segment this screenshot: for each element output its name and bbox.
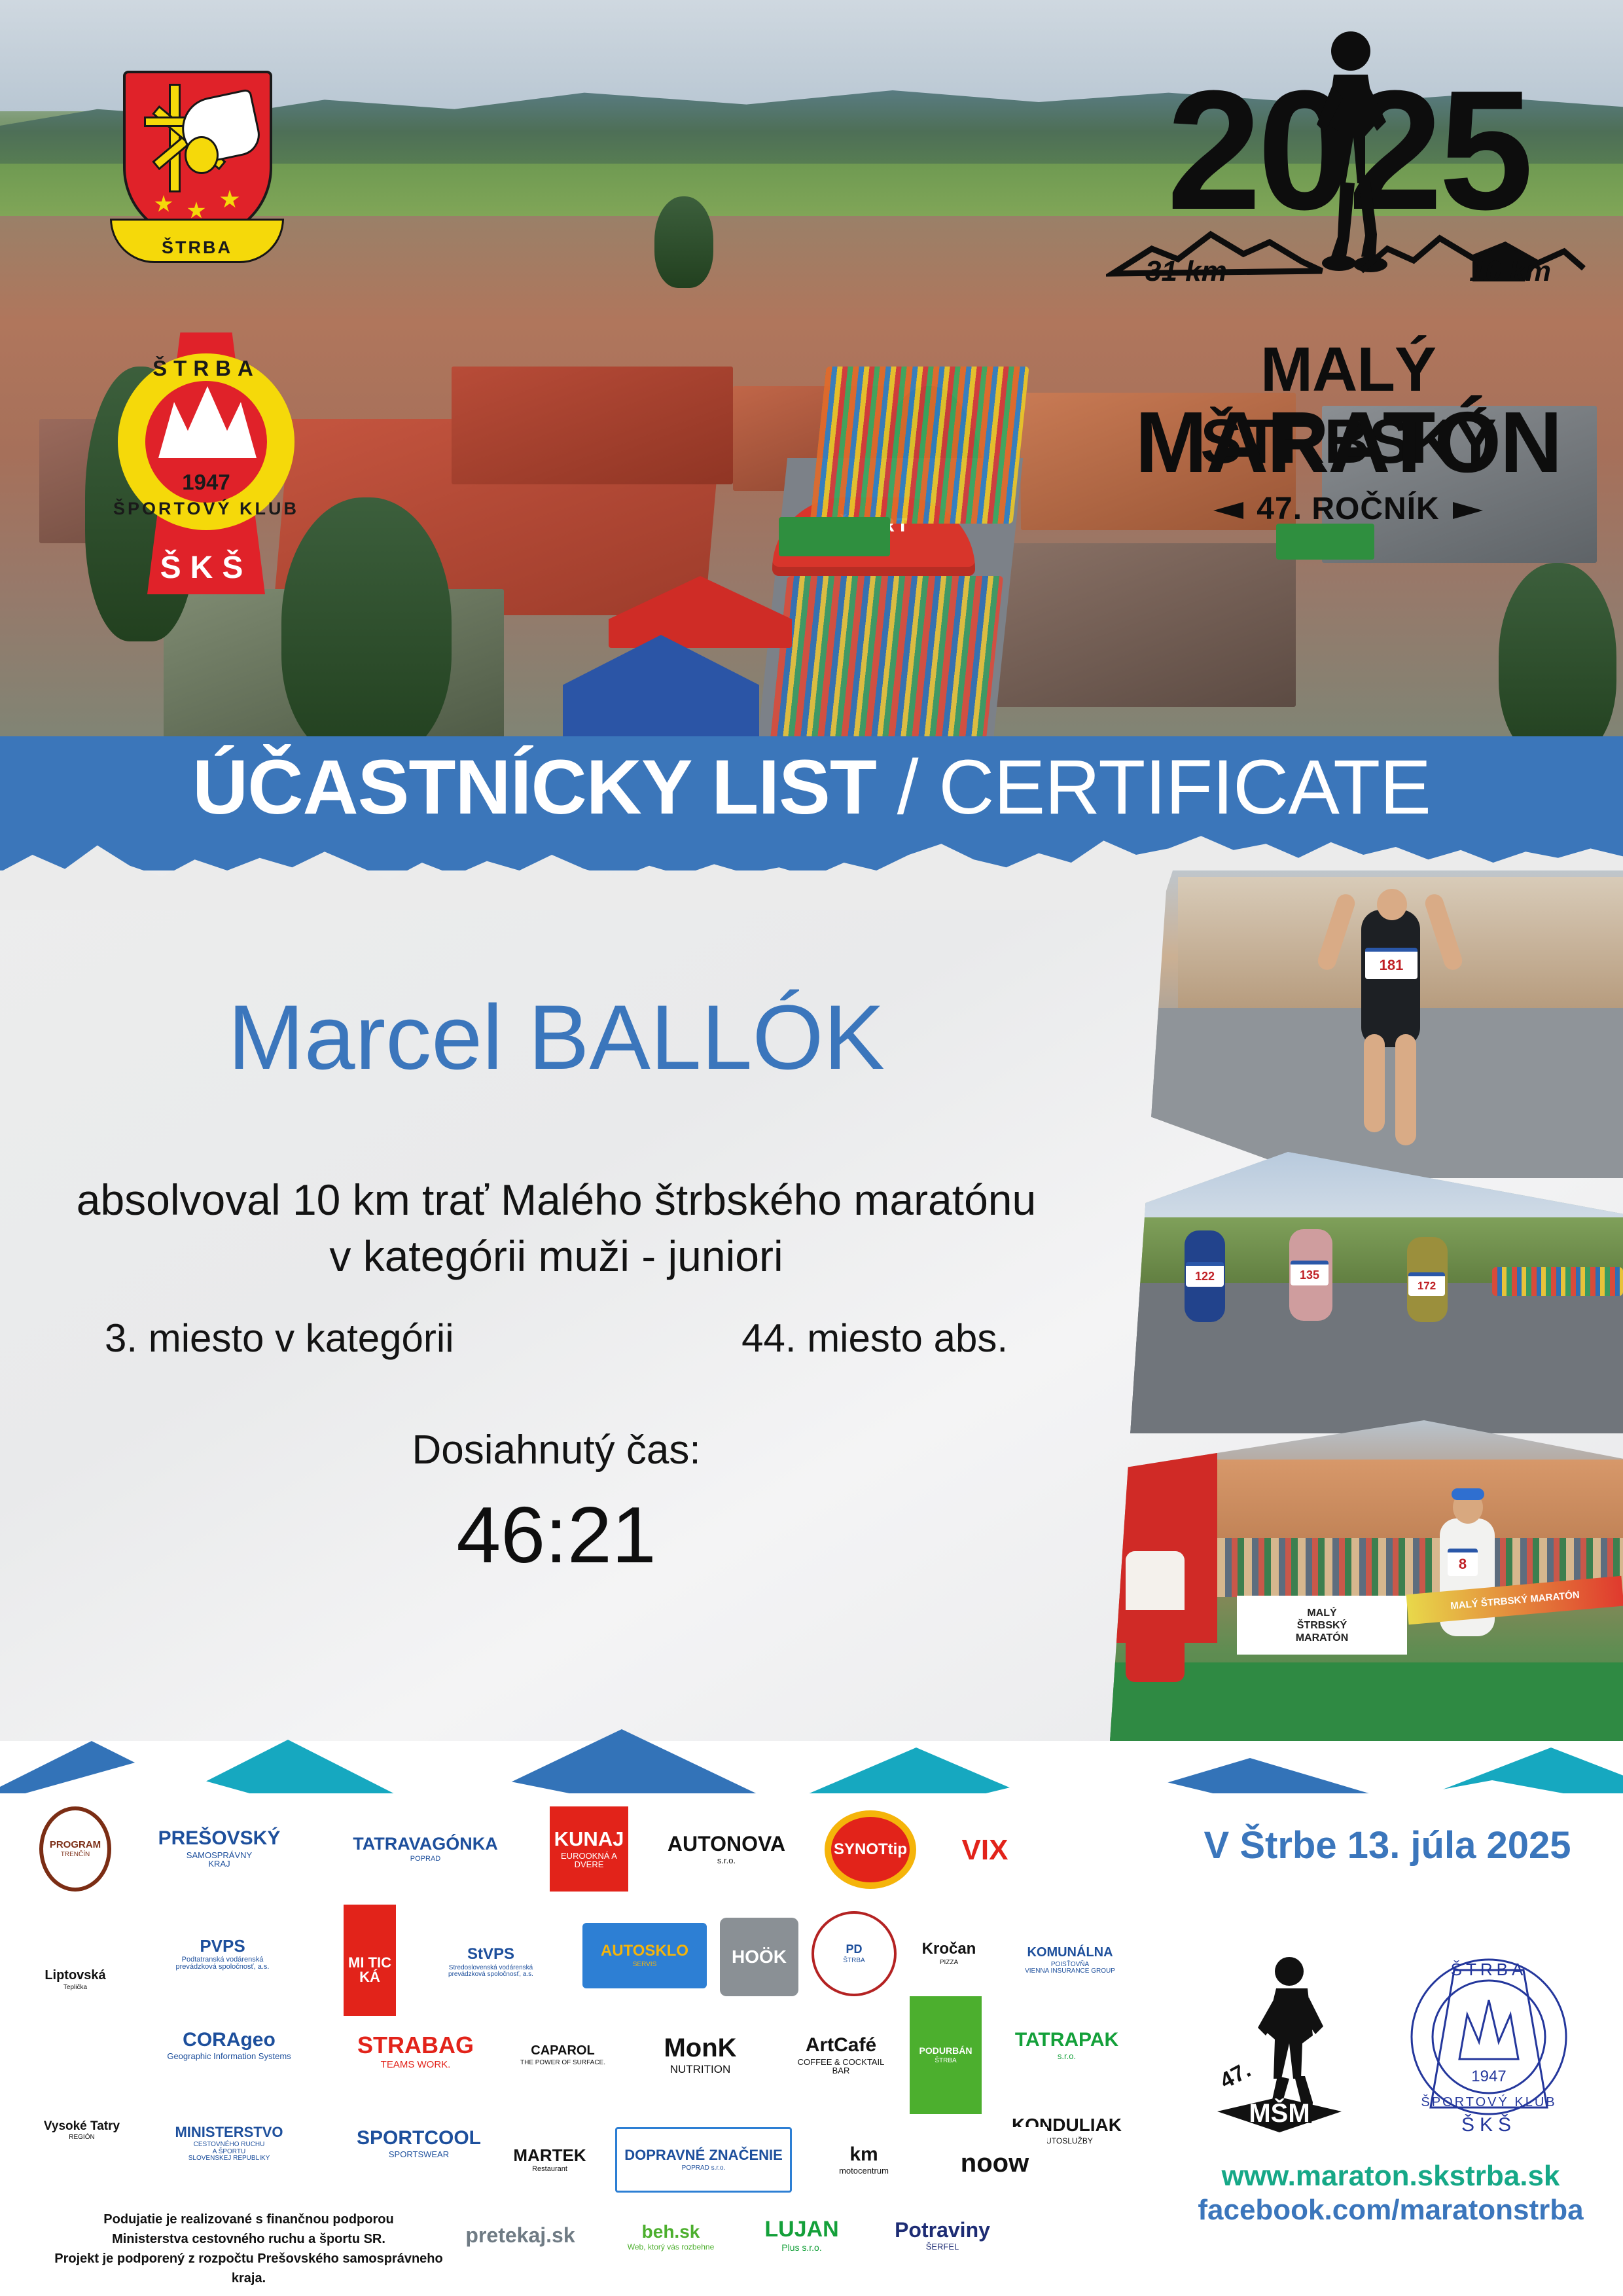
- sks-bottom-label: ŠPORTOVÝ KLUB: [98, 499, 314, 519]
- sponsor-name: AUTONOVA: [668, 1833, 785, 1855]
- runner-leg: [1395, 1034, 1416, 1145]
- page-title-bold: ÚČASTNÍCKY LIST: [192, 744, 876, 831]
- sponsor-name: TATRAPAK: [1015, 2030, 1118, 2051]
- sponsor-tagline: motocentrum: [839, 2166, 889, 2175]
- sponsor-tagline: PIZZA: [940, 1960, 958, 1966]
- distant-runners: [1492, 1267, 1623, 1296]
- sponsor-tagline: EUROOKNÁ A DVERE: [552, 1852, 626, 1869]
- support-line-3: Projekt je podporený z rozpočtu Prešovsk…: [39, 2249, 458, 2288]
- sks-top-label: ŠTRBA: [98, 356, 314, 381]
- crest-star: [187, 202, 205, 220]
- sponsor-name: Kročan: [922, 1941, 976, 1957]
- sponsor-name: KOMUNÁLNA: [1027, 1946, 1113, 1959]
- bib-number: 135: [1291, 1261, 1329, 1285]
- finish-tape-label: MALÝ ŠTRBSKÝ MARATÓN: [1450, 1589, 1580, 1611]
- sponsor-tagline: Restaurant: [532, 2166, 567, 2173]
- hero-photo: ŠTART ŠTRBA: [0, 0, 1623, 746]
- sponsor-name: HOÖK: [732, 1948, 787, 1967]
- event-title-line2: MARATÓN: [1106, 393, 1590, 492]
- sponsor-logo: CAPAROLTHE POWER OF SURFACE.: [510, 2003, 615, 2108]
- crest-shield: [123, 71, 272, 240]
- sponsor-logo: PotravinyŠERFEL: [870, 2199, 1014, 2271]
- sponsor-tagline: CESTOVNÉHO RUCHU A ŠPORTU SLOVENSKEJ REP…: [188, 2142, 270, 2162]
- sponsor-tagline: SERVIS: [633, 1962, 657, 1968]
- time-label: Dosiahnutý čas:: [0, 1427, 1113, 1473]
- sponsor-name: km: [849, 2145, 878, 2165]
- sponsor-logo: AUTONOVAs.r.o.: [648, 1806, 805, 1892]
- bib-number: 181: [1365, 948, 1418, 979]
- event-edition-label: 47. ROČNÍK: [1257, 492, 1439, 526]
- sponsor-tagline: POPRAD: [410, 1856, 440, 1863]
- road-asphalt: [1099, 1283, 1623, 1433]
- category-placement: 3. miesto v kategórii: [105, 1316, 454, 1361]
- sponsor-logo: CORAgeoGeographic Information Systems: [137, 2009, 321, 2081]
- support-line-1: Podujatie je realizované s finančnou pod…: [39, 2210, 458, 2229]
- sponsor-tagline: COFFEE & COCKTAIL BAR: [788, 2058, 894, 2075]
- sponsor-name: PVPS: [200, 1937, 245, 1955]
- sponsor-tagline: s.r.o.: [717, 1856, 736, 1865]
- website-url[interactable]: www.maraton.skstrba.sk: [1171, 2160, 1610, 2193]
- placement-row: 3. miesto v kategórii 44. miesto abs.: [0, 1316, 1113, 1361]
- distance-10km: 10 km: [1469, 255, 1551, 288]
- sponsor-logo: AUTOSKLOSERVIS: [582, 1923, 707, 1988]
- photo-finisher-celebrating: 181: [1099, 870, 1623, 1178]
- runner-leg: [1364, 1034, 1385, 1132]
- msm-abbrev-text: MŠM: [1249, 2098, 1310, 2128]
- event-edition-row: 47. ROČNÍK: [1106, 491, 1590, 527]
- sponsor-tagline: ŠTRBA: [843, 1958, 865, 1964]
- sponsor-name: beh.sk: [642, 2223, 700, 2242]
- sponsor-name: SPORTCOOL: [357, 2128, 481, 2149]
- bib-number: 122: [1186, 1262, 1224, 1287]
- sponsor-tagline: SAMOSPRÁVNY KRAJ: [187, 1851, 252, 1869]
- sponsor-name: STRABAG: [357, 2034, 474, 2058]
- sponsor-logo: MonKNUTRITION: [635, 2016, 766, 2094]
- sponsor-logo: HOÖK: [720, 1918, 798, 1996]
- sponsor-name: Potraviny: [895, 2219, 990, 2241]
- sponsor-name: MonK: [664, 2035, 736, 2062]
- sponsor-name: PROGRAM: [50, 1840, 101, 1850]
- sks-club-logo: ŠTRBA 1947 ŠPORTOVÝ KLUB ŠKŠ: [98, 321, 314, 602]
- sponsor-name: MINISTERSTVO: [175, 2125, 283, 2140]
- bib-number: 8: [1448, 1549, 1478, 1576]
- sks-stamp: ŠTRBA 1947 ŠPORTOVÝ KLUB ŠKŠ: [1394, 1944, 1584, 2140]
- sponsor-logo: ArtCaféCOFFEE & COCKTAIL BAR: [785, 2003, 897, 2108]
- sponsor-tagline: NUTRITION: [670, 2064, 731, 2075]
- msm-edition-text: 47.: [1216, 2057, 1255, 2094]
- sponsor-name: StVPS: [467, 1946, 514, 1962]
- sponsor-logo: PVPSPodtatranská vodárenská prevádzková …: [124, 1916, 321, 1992]
- sponsor-tagline: TRENČÍN: [61, 1852, 90, 1858]
- arrow-left-icon: [1177, 502, 1243, 519]
- certificate-description: absolvoval 10 km trať Malého štrbského m…: [0, 1172, 1113, 1284]
- sponsor-tagline: Plus s.r.o.: [781, 2243, 821, 2252]
- funding-support-text: Podujatie je realizované s finančnou pod…: [39, 2210, 458, 2288]
- sponsor-logo: TATRAVAGÓNKAPOPRAD: [327, 1813, 524, 1885]
- sponsor-tagline: Web, ktorý vás rozbehne: [628, 2243, 715, 2251]
- sponsor-logo: LiptovskáTeplička: [39, 1905, 111, 2055]
- sks-year-label: 1947: [98, 470, 314, 495]
- sponsor-logo: VIX: [936, 1806, 1034, 1895]
- sponsor-logo: KOMUNÁLNAPOISŤOVŇA VIENNA INSURANCE GROU…: [1001, 1924, 1139, 1996]
- sponsor-logo: LUJANPlus s.r.o.: [746, 2199, 857, 2271]
- sponsor-tagline: Geographic Information Systems: [167, 2052, 291, 2060]
- sponsor-name: LUJAN: [764, 2218, 838, 2241]
- runner-head: [1377, 889, 1407, 920]
- sponsor-name: DOPRAVNÉ ZNAČENIE: [624, 2148, 783, 2162]
- participant-name: Marcel BALLÓK: [0, 988, 1113, 1086]
- distance-31km: 31 km: [1145, 255, 1227, 288]
- sponsor-name: SYNOTtip: [834, 1842, 907, 1857]
- sponsor-name: PD: [846, 1943, 862, 1955]
- crest-name-label: ŠTRBA: [162, 238, 232, 261]
- sponsor-logo-grid: PROGRAMTRENČÍNPREŠOVSKÝSAMOSPRÁVNY KRAJT…: [39, 1806, 1152, 2212]
- absolute-placement: 44. miesto abs.: [741, 1316, 1008, 1361]
- sponsor-name: Liptovská: [45, 1969, 105, 1982]
- race-crowd: [810, 367, 1029, 524]
- sponsor-logo: PROGRAMTRENČÍN: [39, 1806, 111, 1892]
- sponsor-tagline: Stredoslovenská vodárenská prevádzková s…: [448, 1965, 533, 1978]
- issue-date: V Štrbe 13. júla 2025: [1171, 1823, 1603, 1867]
- arrow-right-icon: [1453, 502, 1520, 519]
- sks-stamp-icon: ŠTRBA 1947 ŠPORTOVÝ KLUB ŠKŠ: [1394, 1944, 1584, 2140]
- sponsor-logo: SYNOTtip: [825, 1810, 916, 1889]
- crest-name-banner: ŠTRBA: [110, 219, 284, 263]
- sponsor-logo: TATRAPAKs.r.o.: [1001, 2009, 1132, 2081]
- msm-runner-icon: 47. MŠM: [1198, 1950, 1361, 2134]
- sponsor-tagline: ŠERFEL: [926, 2242, 959, 2251]
- sponsor-logo: SPORTCOOLSPORTSWEAR: [340, 2108, 497, 2179]
- sponsor-tagline: THE POWER OF SURFACE.: [520, 2060, 605, 2066]
- sponsor-logo: beh.skWeb, ktorý vás rozbehne: [609, 2209, 733, 2265]
- sponsor-tagline: SPORTSWEAR: [389, 2150, 449, 2159]
- sponsor-name: CORAgeo: [183, 2030, 276, 2051]
- sponsor-tagline: Teplička: [63, 1984, 87, 1991]
- bib-number: 172: [1408, 1272, 1445, 1296]
- crest-star: [220, 190, 240, 209]
- sponsor-name: PREŠOVSKÝ: [158, 1829, 281, 1849]
- sponsor-logo: STRABAGTEAMS WORK.: [340, 2016, 491, 2088]
- tree: [654, 196, 713, 288]
- sponsor-logo: MARTEKRestaurant: [497, 2114, 602, 2206]
- facebook-url[interactable]: facebook.com/maratonstrba: [1171, 2194, 1610, 2227]
- sponsor-name: MARTEK: [513, 2147, 586, 2164]
- event-logo: 2025 31 km 10 km: [1106, 20, 1590, 609]
- race-crowd: [770, 576, 1003, 740]
- photo-finish-line: MALÝ ŠTRBSKÝ MARATÓN 8 MALÝ ŠTRBSKÝ MARA…: [1099, 1420, 1623, 1741]
- sponsor-name: Vysoké Tatry: [44, 2120, 120, 2132]
- sponsor-logo: pretekaj.sk: [445, 2206, 596, 2265]
- certificate-page: ŠTART ŠTRBA: [0, 0, 1623, 2296]
- photo-collage: 181 122 135 172 MALÝ ŠTRBSKÝ MARATÓN 8: [1099, 870, 1623, 1741]
- event-distances: 31 km 10 km: [1106, 255, 1590, 288]
- finish-time-value: 46:21: [0, 1492, 1113, 1577]
- sponsor-name: pretekaj.sk: [465, 2225, 575, 2246]
- sponsor-logo: noow: [942, 2127, 1047, 2199]
- sponsor-tagline: POISŤOVŇA VIENNA INSURANCE GROUP: [1025, 1962, 1115, 1975]
- sponsor-name: noow: [961, 2150, 1029, 2177]
- sponsor-name: TATRAVAGÓNKA: [353, 1835, 497, 1854]
- crest-star: [154, 195, 173, 213]
- tent-green: [779, 517, 890, 556]
- strba-municipal-crest: ŠTRBA: [110, 71, 280, 267]
- sponsor-logo: Vysoké TatryREGIÓN: [39, 2068, 124, 2193]
- sponsor-name: KUNAJ: [554, 1829, 624, 1850]
- sponsor-tagline: POPRAD s.r.o.: [682, 2165, 726, 2172]
- sponsor-logo: PREŠOVSKÝSAMOSPRÁVNY KRAJ: [131, 1812, 308, 1885]
- msm-logo: 47. MŠM: [1198, 1950, 1361, 2134]
- sponsor-logo: DOPRAVNÉ ZNAČENIEPOPRAD s.r.o.: [615, 2127, 792, 2193]
- sponsor-tagline: AUTOSLUŽBY: [1041, 2137, 1093, 2145]
- sponsor-name: AUTOSKLO: [601, 1943, 688, 1959]
- sponsor-logo: PODURBÁNŠTRBA: [910, 1996, 982, 2114]
- street-asphalt: [1099, 1008, 1623, 1178]
- sponsor-tagline: TEAMS WORK.: [381, 2060, 451, 2070]
- folk-dancer: [1126, 1551, 1185, 1682]
- stamp-abbrev-text: ŠKŠ: [1461, 2113, 1516, 2136]
- crest-cuff: [185, 136, 219, 174]
- support-line-2: Ministerstva cestovného ruchu a športu S…: [39, 2229, 458, 2249]
- sponsor-logo: PDŠTRBA: [811, 1911, 897, 1996]
- sponsor-logo: KročanPIZZA: [903, 1911, 995, 1996]
- sponsor-tagline: s.r.o.: [1058, 2052, 1076, 2060]
- page-title-light: CERTIFICATE: [938, 744, 1431, 831]
- sponsor-logo: StVPSStredoslovenská vodárenská prevádzk…: [416, 1916, 566, 2008]
- sponsor-logo: KUNAJEUROOKNÁ A DVERE: [550, 1806, 628, 1892]
- sponsor-name: ArtCafé: [806, 2036, 876, 2056]
- description-line-2: v kategórii muži - juniori: [0, 1228, 1113, 1284]
- sponsor-tagline: Podtatranská vodárenská prevádzková spol…: [176, 1956, 270, 1971]
- sponsor-name: CAPAROL: [531, 2044, 594, 2057]
- rooftop: [452, 367, 733, 484]
- winner-headband: [1452, 1488, 1484, 1500]
- page-title: ÚČASTNÍCKY LIST / CERTIFICATE: [0, 748, 1623, 827]
- stamp-year-text: 1947: [1471, 2068, 1506, 2085]
- description-line-1: absolvoval 10 km trať Malého štrbského m…: [0, 1172, 1113, 1228]
- page-title-separator: /: [876, 744, 938, 831]
- sponsor-logo: MINISTERSTVOCESTOVNÉHO RUCHU A ŠPORTU SL…: [131, 2101, 327, 2186]
- sponsor-name: VIX: [962, 1836, 1008, 1865]
- sponsor-logo: kmmotocentrum: [811, 2114, 916, 2206]
- sks-abbrev-label: ŠKŠ: [98, 550, 314, 586]
- footer: PROGRAMTRENČÍNPREŠOVSKÝSAMOSPRÁVNY KRAJT…: [0, 1793, 1623, 2296]
- sponsor-name: MI TIC KÁ: [346, 1956, 393, 1985]
- photo-runners-group: 122 135 172: [1099, 1152, 1623, 1433]
- sponsor-name: PODURBÁN: [919, 2046, 972, 2055]
- stamp-bottom-text: ŠPORTOVÝ KLUB: [1421, 2094, 1556, 2109]
- certificate-title-banner: ÚČASTNÍCKY LIST / CERTIFICATE: [0, 736, 1623, 870]
- sponsor-tagline: ŠTRBA: [935, 2058, 956, 2064]
- stamp-top-text: ŠTRBA: [1451, 1960, 1527, 1979]
- finish-line-banner: MALÝ ŠTRBSKÝ MARATÓN: [1237, 1596, 1407, 1655]
- sponsor-tagline: REGIÓN: [69, 2134, 94, 2141]
